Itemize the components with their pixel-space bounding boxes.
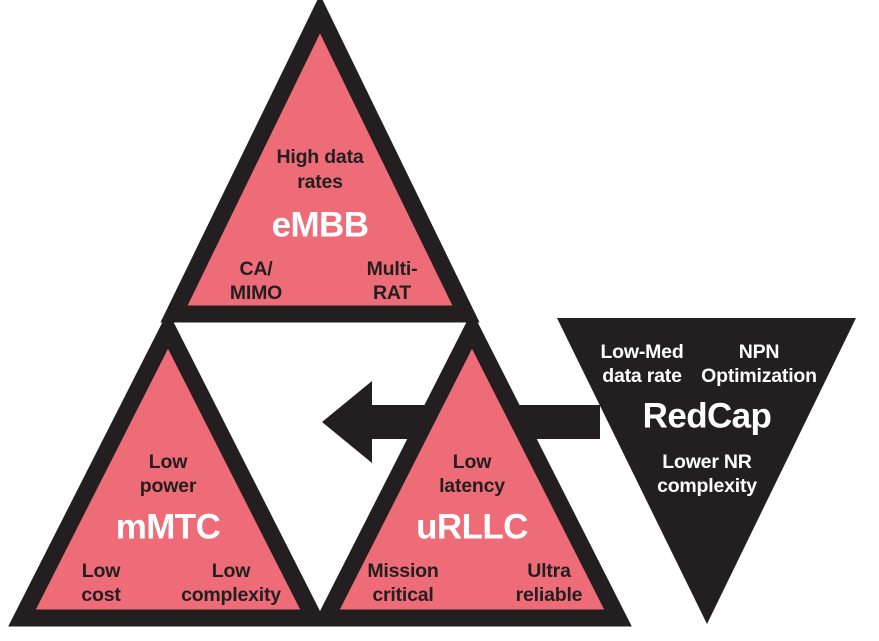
embb-left-label-line1: CA/: [240, 258, 274, 280]
urllc-right-label-line1: Ultra: [527, 560, 571, 582]
mmtc-right-label-line1: Low: [212, 560, 251, 582]
redcap-bottom-label-line1: Lower NR: [662, 451, 752, 473]
mmtc-triangle-shape[interactable]: [22, 330, 314, 618]
urllc-top-label-line2: latency: [439, 475, 505, 497]
urllc-left-label-line2: critical: [372, 584, 433, 606]
urllc-left-label-line1: Mission: [367, 560, 438, 582]
redcap-top-left-label-line2: data rate: [602, 365, 682, 387]
urllc-right-label-line2: reliable: [516, 584, 583, 606]
mmtc-left-label-line2: cost: [81, 584, 121, 606]
redcap-top-right-label-line1: NPN: [739, 341, 780, 363]
5g-redcap-diagram: High data rates eMBB CA/ MIMO Multi- RAT…: [0, 0, 879, 641]
embb-top-label-line1: High data: [276, 146, 363, 168]
mmtc-right-label-line2: complexity: [181, 584, 281, 606]
redcap-top-left-label-line1: Low-Med: [600, 341, 683, 363]
redcap-bottom-label-line2: complexity: [657, 475, 757, 497]
embb-right-label-line2: RAT: [373, 282, 411, 304]
embb-title: eMBB: [272, 205, 369, 244]
mmtc-left-label-line1: Low: [82, 560, 121, 582]
embb-right-label-line1: Multi-: [367, 258, 418, 280]
embb-left-label-line2: MIMO: [230, 282, 282, 304]
urllc-top-label-line1: Low: [453, 451, 492, 473]
redcap-title: RedCap: [643, 396, 772, 435]
urllc-title: uRLLC: [416, 507, 528, 546]
mmtc-title: mMTC: [116, 507, 221, 546]
embb-top-label-line2: rates: [297, 171, 343, 193]
redcap-top-right-label-line2: Optimization: [701, 365, 817, 387]
mmtc-top-label-line2: power: [140, 475, 197, 497]
mmtc-top-label-line1: Low: [149, 451, 188, 473]
diagram-root: High data rates eMBB CA/ MIMO Multi- RAT…: [0, 0, 879, 641]
